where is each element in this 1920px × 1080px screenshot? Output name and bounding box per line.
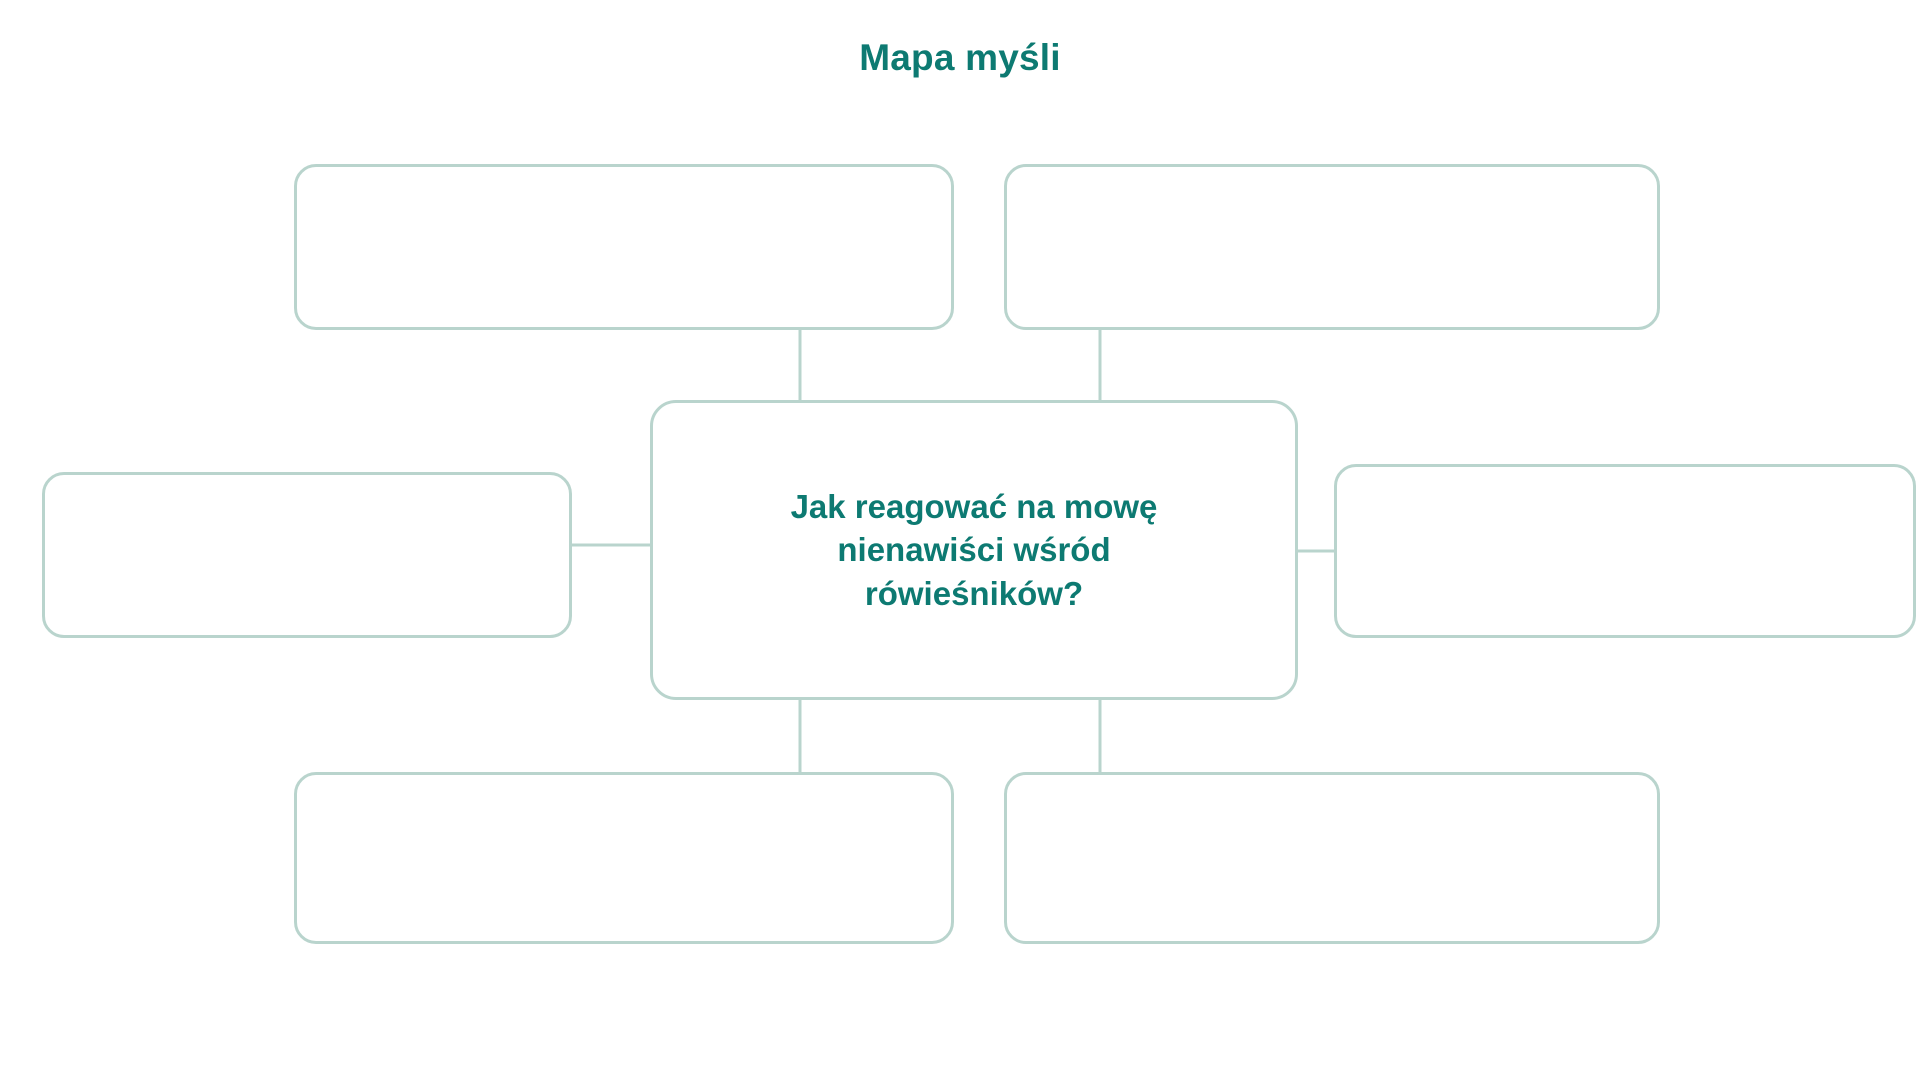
central-node[interactable]: Jak reagować na mowę nienawiści wśród ró… xyxy=(650,400,1298,700)
branch-node-top-right[interactable] xyxy=(1004,164,1660,330)
central-node-label: Jak reagować na mowę nienawiści wśród ró… xyxy=(791,485,1158,616)
branch-node-right[interactable] xyxy=(1334,464,1916,638)
branch-node-top-left[interactable] xyxy=(294,164,954,330)
branch-node-right-label xyxy=(1337,467,1913,635)
mindmap-canvas: Mapa myśli Jak reagować na mowę niena xyxy=(0,0,1920,1080)
branch-node-top-left-label xyxy=(297,167,951,327)
branch-node-top-right-label xyxy=(1007,167,1657,327)
page-title: Mapa myśli xyxy=(0,38,1920,79)
branch-node-bottom-right-label xyxy=(1007,775,1657,941)
branch-node-left[interactable] xyxy=(42,472,572,638)
branch-node-bottom-left[interactable] xyxy=(294,772,954,944)
branch-node-bottom-left-label xyxy=(297,775,951,941)
branch-node-left-label xyxy=(45,475,569,635)
branch-node-bottom-right[interactable] xyxy=(1004,772,1660,944)
